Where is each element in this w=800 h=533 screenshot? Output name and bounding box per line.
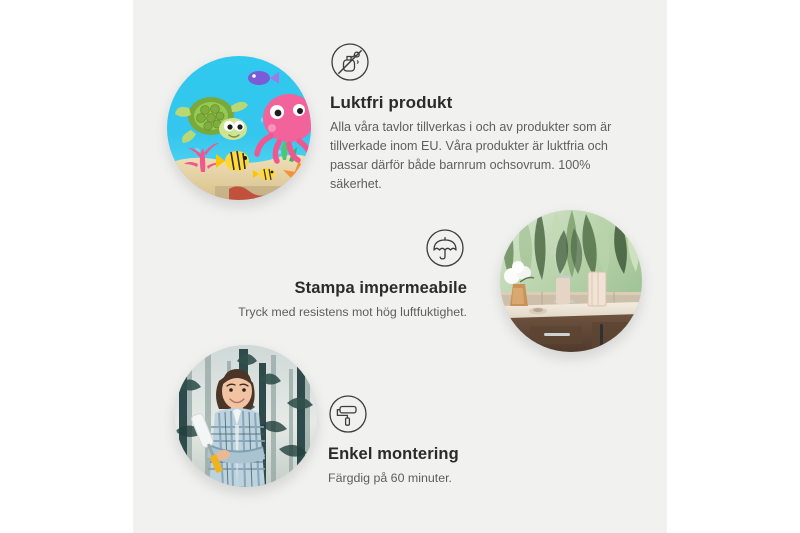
- feature-block-easy-assembly: Enkel montering Färgdig på 60 minuter.: [328, 394, 558, 488]
- feature-block-waterproof: Stampa impermeabile Tryck med resistens …: [215, 228, 467, 322]
- bathroom-vanity-photo: [500, 210, 642, 352]
- underwater-cartoon-photo: [167, 56, 311, 200]
- feature-body: Tryck med resistens mot hög luftfuktighe…: [215, 303, 467, 322]
- umbrella-icon: [425, 228, 465, 268]
- decorator-forest-photo: [175, 345, 317, 487]
- feature-body: Färgdig på 60 minuter.: [328, 469, 558, 488]
- paint-roller-icon: [328, 394, 368, 434]
- feature-title: Luktfri produkt: [330, 93, 622, 113]
- feature-title: Enkel montering: [328, 445, 558, 464]
- infographic-root: Luktfri produkt Alla våra tavlor tillver…: [0, 0, 800, 533]
- feature-block-odour-free: Luktfri produkt Alla våra tavlor tillver…: [330, 42, 622, 195]
- feature-title: Stampa impermeabile: [215, 279, 467, 298]
- feature-body: Alla våra tavlor tillverkas i och av pro…: [330, 118, 622, 195]
- no-odour-icon: [330, 42, 370, 82]
